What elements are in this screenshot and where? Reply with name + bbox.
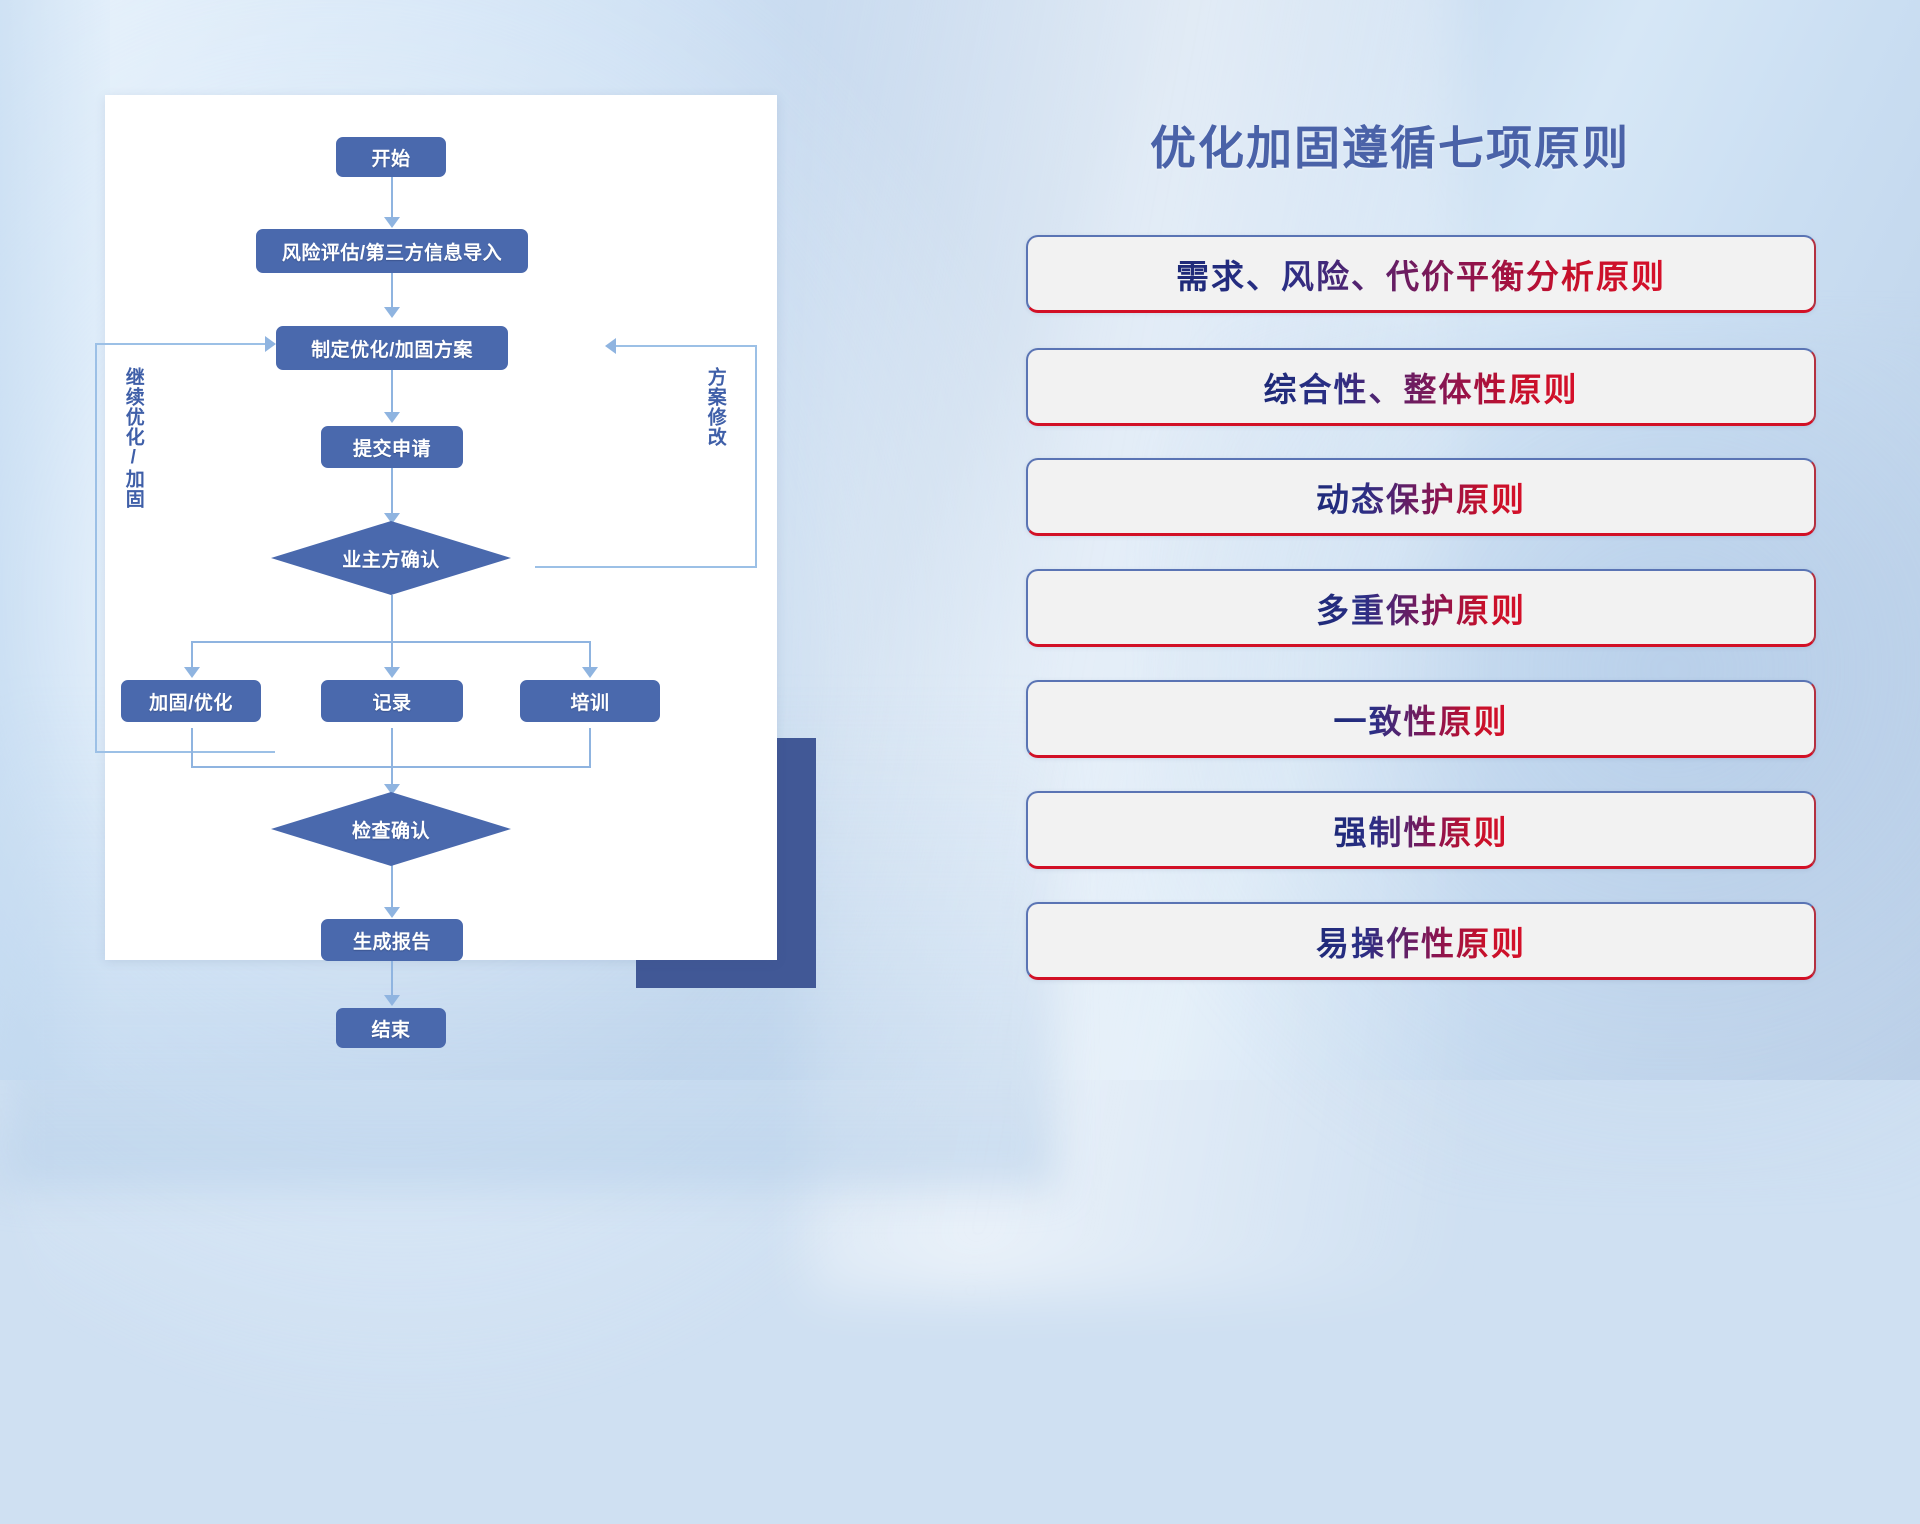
flow-node-training[interactable]: 培训 xyxy=(520,680,660,722)
arrowhead-report-to-end xyxy=(384,995,400,1006)
flow-node-make-plan[interactable]: 制定优化/加固方案 xyxy=(276,326,508,370)
arrowhead-check-to-report xyxy=(384,907,400,918)
connector-submit-to-owner xyxy=(391,468,393,519)
background-left-band xyxy=(0,0,110,1080)
principle-item-5[interactable]: 一致性原则 xyxy=(1026,680,1816,758)
connector-left-loop-bottom xyxy=(95,751,275,753)
arrowhead-fanout-left xyxy=(184,667,200,678)
principle-item-7[interactable]: 易操作性原则 xyxy=(1026,902,1816,980)
connector-merge-right xyxy=(589,728,591,768)
connector-left-loop-arrowhead xyxy=(265,336,276,352)
principle-label-2: 综合性、整体性原则 xyxy=(1264,363,1579,411)
principle-label-7: 易操作性原则 xyxy=(1316,917,1526,965)
principle-item-4[interactable]: 多重保护原则 xyxy=(1026,569,1816,647)
connector-merge-center-down xyxy=(391,728,393,790)
flow-label-plan-revision: 方案修改 xyxy=(705,367,725,447)
flow-node-end[interactable]: 结束 xyxy=(336,1008,446,1048)
principle-label-5: 一致性原则 xyxy=(1334,695,1509,743)
connector-right-loop-top xyxy=(615,345,757,347)
arrowhead-risk-to-plan xyxy=(384,307,400,318)
page-title: 优化加固遵循七项原则 xyxy=(1150,112,1630,178)
connector-right-loop-arrowhead xyxy=(605,338,616,354)
connector-right-loop-vertical xyxy=(755,345,757,567)
connector-merge-left xyxy=(191,728,193,768)
connector-left-loop-vertical xyxy=(95,343,97,753)
connector-check-to-report xyxy=(391,865,393,913)
connector-start-to-risk xyxy=(391,175,393,223)
flow-node-start[interactable]: 开始 xyxy=(336,137,446,177)
arrowhead-fanout-center xyxy=(384,667,400,678)
flow-node-submit-application[interactable]: 提交申请 xyxy=(321,426,463,468)
principle-item-6[interactable]: 强制性原则 xyxy=(1026,791,1816,869)
principles-panel: 优化加固遵循七项原则 需求、风险、代价平衡分析原则 综合性、整体性原则 动态保护… xyxy=(1020,0,1920,1080)
principle-item-1[interactable]: 需求、风险、代价平衡分析原则 xyxy=(1026,235,1816,313)
flow-node-record[interactable]: 记录 xyxy=(321,680,463,722)
principle-item-2[interactable]: 综合性、整体性原则 xyxy=(1026,348,1816,426)
flow-node-check-confirm[interactable]: 检查确认 xyxy=(271,792,511,866)
flow-node-check-confirm-label: 检查确认 xyxy=(352,816,430,843)
connector-plan-to-submit xyxy=(391,370,393,418)
flowchart-card: 继续优化/加固 方案修改 开始 风险评估/第三方信息导入 制定优化/加固方案 提… xyxy=(105,95,777,960)
connector-owner-down xyxy=(391,595,393,643)
arrowhead-plan-to-submit xyxy=(384,412,400,423)
principle-label-3: 动态保护原则 xyxy=(1316,473,1526,521)
principle-item-3[interactable]: 动态保护原则 xyxy=(1026,458,1816,536)
flow-node-reinforce[interactable]: 加固/优化 xyxy=(121,680,261,722)
flow-label-continue-optimize: 继续优化/加固 xyxy=(123,367,143,509)
flow-node-owner-confirm[interactable]: 业主方确认 xyxy=(271,521,511,595)
arrowhead-fanout-right xyxy=(582,667,598,678)
flow-node-owner-confirm-label: 业主方确认 xyxy=(342,545,440,572)
flow-node-risk-assess[interactable]: 风险评估/第三方信息导入 xyxy=(256,229,528,273)
connector-left-loop-top xyxy=(95,343,270,345)
flow-node-generate-report[interactable]: 生成报告 xyxy=(321,919,463,961)
connector-right-loop-bottom xyxy=(535,566,757,568)
principle-label-4: 多重保护原则 xyxy=(1316,584,1526,632)
principle-label-6: 强制性原则 xyxy=(1334,806,1509,854)
arrowhead-start-to-risk xyxy=(384,217,400,228)
flowchart-canvas: 继续优化/加固 方案修改 开始 风险评估/第三方信息导入 制定优化/加固方案 提… xyxy=(105,95,777,960)
principle-label-1: 需求、风险、代价平衡分析原则 xyxy=(1176,250,1666,298)
